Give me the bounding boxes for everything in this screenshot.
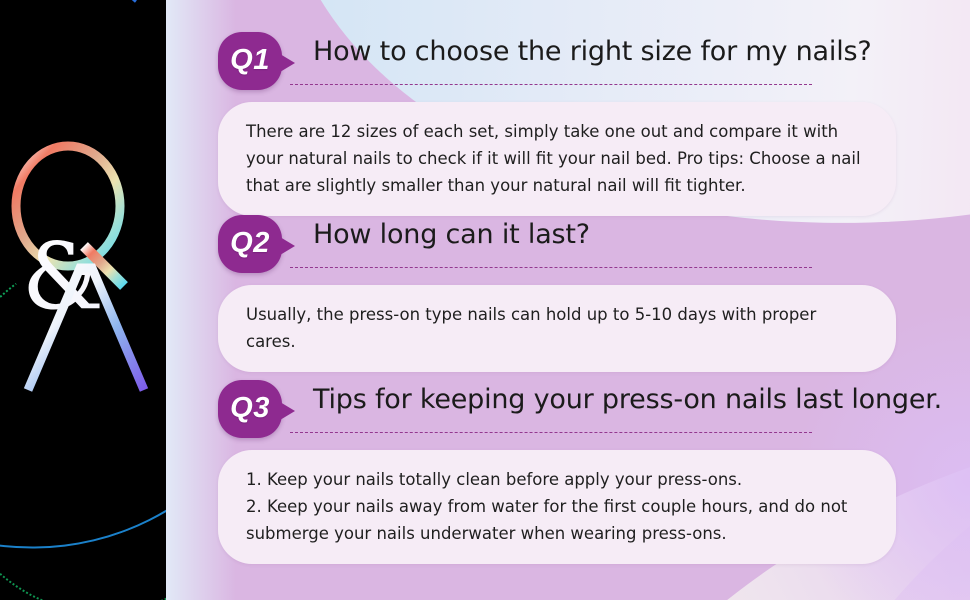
- faq-answer-line-1: 1. Keep your nails totally clean before …: [246, 466, 870, 493]
- faq-badge-label: Q1: [230, 44, 270, 77]
- faq-answer-box-2: Usually, the press-on type nails can hol…: [218, 285, 896, 372]
- faq-badge-q1[interactable]: Q1: [218, 32, 282, 90]
- faq-item-3: Q3 Tips for keeping your press-on nails …: [218, 380, 896, 564]
- faq-answer-text: There are 12 sizes of each set, simply t…: [246, 118, 870, 199]
- faq-question-text: How long can it last?: [313, 219, 590, 250]
- faq-item-1: Q1 How to choose the right size for my n…: [218, 32, 896, 216]
- faq-question-text: How to choose the right size for my nail…: [313, 36, 872, 67]
- faq-badge-q3[interactable]: Q3: [218, 380, 282, 438]
- faq-badge-q2[interactable]: Q2: [218, 215, 282, 273]
- faq-badge-label: Q2: [230, 227, 270, 260]
- faq-question-row: Q2 How long can it last?: [218, 215, 896, 277]
- faq-question-divider: [290, 267, 812, 268]
- faq-answer-box-1: There are 12 sizes of each set, simply t…: [218, 102, 896, 216]
- faq-question-text: Tips for keeping your press-on nails las…: [313, 384, 942, 415]
- faq-question-divider: [290, 432, 812, 433]
- faq-question-row: Q3 Tips for keeping your press-on nails …: [218, 380, 896, 442]
- faq-question-row: Q1 How to choose the right size for my n…: [218, 32, 896, 94]
- faq-answer-line-2: 2. Keep your nails away from water for t…: [246, 493, 870, 547]
- faq-content: Q1 How to choose the right size for my n…: [0, 0, 970, 600]
- faq-question-divider: [290, 84, 812, 85]
- faq-answer-box-3: 1. Keep your nails totally clean before …: [218, 450, 896, 564]
- faq-badge-label: Q3: [230, 392, 270, 425]
- faq-answer-text: Usually, the press-on type nails can hol…: [246, 301, 870, 355]
- faq-banner: & Q1 How to choose the right size for my…: [0, 0, 970, 600]
- faq-item-2: Q2 How long can it last? Usually, the pr…: [218, 215, 896, 372]
